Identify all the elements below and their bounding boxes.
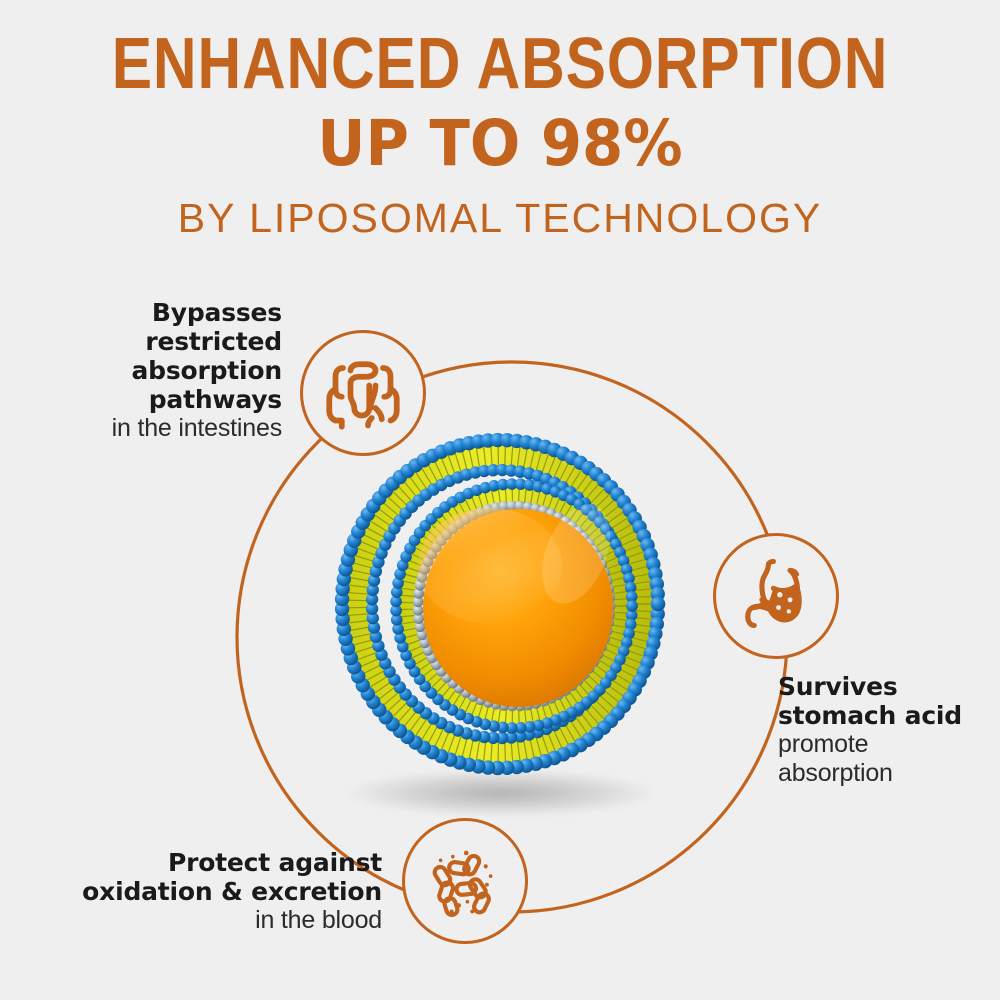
badge-stomach[interactable] [713, 533, 839, 659]
callout-stomach-light-1: promote [778, 730, 1000, 759]
callout-stomach: Survives stomach acid promote absorption [778, 672, 1000, 788]
callout-intestines: Bypasses restricted absorption pathways … [10, 298, 282, 443]
callout-intestines-bold-4: pathways [10, 385, 282, 414]
callout-intestines-bold-1: Bypasses [10, 298, 282, 327]
liposome-graphic [318, 418, 682, 790]
badge-intestines[interactable] [300, 330, 426, 456]
callout-blood-bold-2: oxidation & excretion [18, 877, 382, 906]
molecule-chain-icon [426, 842, 504, 920]
callout-intestines-bold-2: restricted [10, 327, 282, 356]
callout-blood-bold-1: Protect against [18, 848, 382, 877]
callout-blood-light-1: in the blood [18, 906, 382, 935]
infographic-canvas: ENHANCED ABSORPTION UP TO 98% BY LIPOSOM… [0, 0, 1000, 1000]
stomach-icon [735, 555, 817, 637]
callout-intestines-bold-3: absorption [10, 356, 282, 385]
callout-stomach-bold-1: Survives [778, 672, 1000, 701]
callout-blood: Protect against oxidation & excretion in… [18, 848, 382, 935]
callout-stomach-bold-2: stomach acid [778, 701, 1000, 730]
callout-stomach-light-2: absorption [778, 759, 1000, 788]
callout-intestines-light-1: in the intestines [10, 414, 282, 443]
intestines-icon [323, 353, 403, 433]
badge-molecule[interactable] [402, 818, 528, 944]
